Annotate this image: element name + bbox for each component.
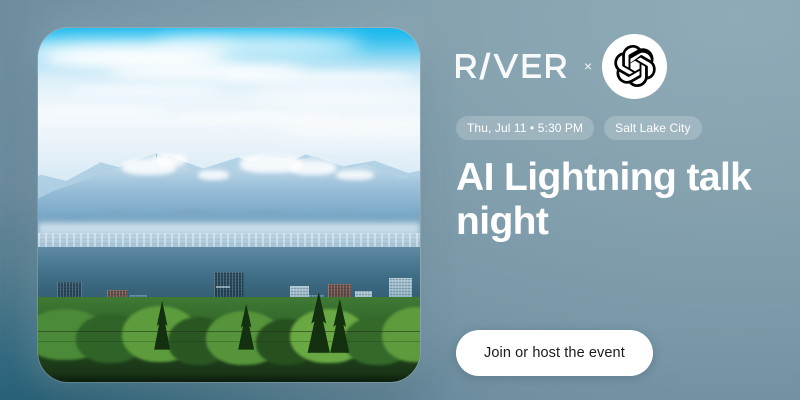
river-wordmark-logo <box>456 52 574 80</box>
tree-canopy <box>38 297 420 382</box>
openai-logo <box>602 34 667 99</box>
openai-knot-icon <box>614 45 656 87</box>
photo-image <box>38 28 420 382</box>
brand-lockup: × <box>456 38 667 94</box>
join-or-host-event-button[interactable]: Join or host the event <box>456 330 653 376</box>
salt-lake-city-skyline-photo <box>38 28 420 382</box>
event-title: AI Lightning talk night <box>456 156 786 245</box>
event-datetime-pill: Thu, Jul 11 • 5:30 PM <box>456 116 594 140</box>
event-meta-row: Thu, Jul 11 • 5:30 PM Salt Lake City <box>456 116 702 140</box>
brand-separator-x: × <box>584 59 592 74</box>
event-promo-card: × Thu, Jul 11 • 5:30 PM Salt Lake City A… <box>0 0 800 400</box>
event-location-pill: Salt Lake City <box>604 116 701 140</box>
event-details-column: × Thu, Jul 11 • 5:30 PM Salt Lake City A… <box>456 0 800 400</box>
